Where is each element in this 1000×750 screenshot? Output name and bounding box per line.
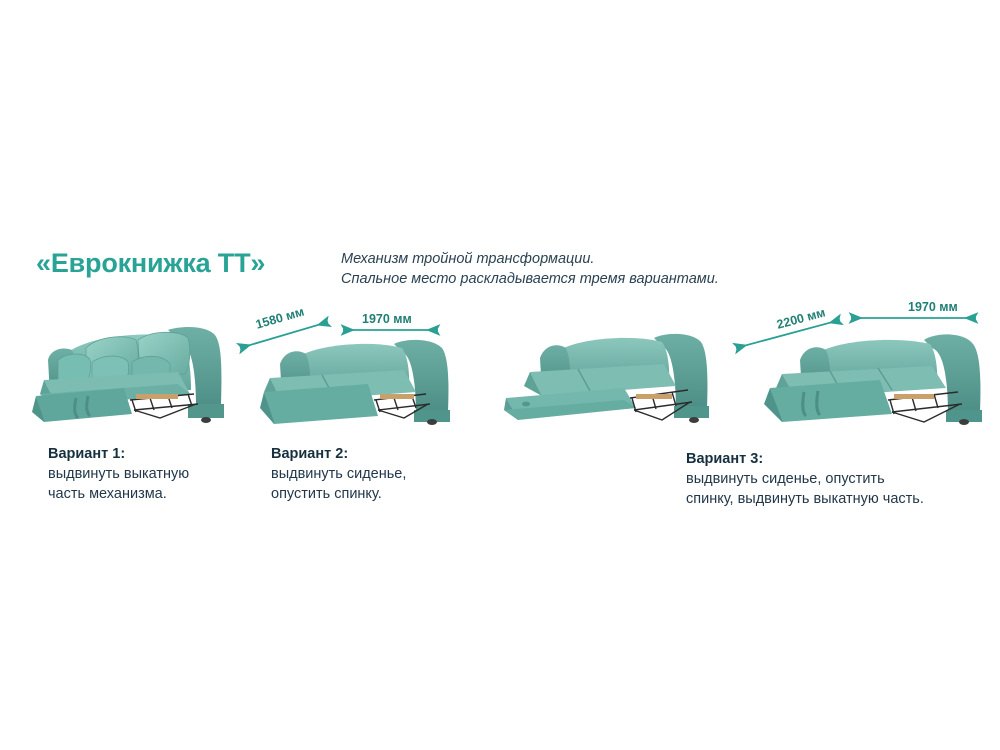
variant-3: Вариант 3: выдвинуть сиденье, опустить с… (686, 449, 924, 509)
variant-1-heading: Вариант 1: (48, 444, 189, 464)
variant-1: Вариант 1: выдвинуть выкатную часть меха… (48, 444, 189, 504)
sofa-variant-3a (504, 328, 710, 440)
subtitle-block: Механизм тройной трансформации. Спальное… (341, 249, 719, 289)
variant-2-heading: Вариант 2: (271, 444, 406, 464)
variant-3-heading: Вариант 3: (686, 449, 924, 469)
variant-3-line-1: выдвинуть сиденье, опустить (686, 469, 924, 489)
subtitle-line-1: Механизм тройной трансформации. (341, 249, 719, 269)
subtitle-line-2: Спальное место раскладывается тремя вари… (341, 269, 719, 289)
variant-2-line-2: опустить спинку. (271, 484, 406, 504)
infographic-canvas: «Еврокнижка ТТ» Механизм тройной трансфо… (0, 0, 1000, 750)
variant-3-line-2: спинку, выдвинуть выкатную часть. (686, 489, 924, 509)
dim-label-1970-right: 1970 мм (908, 300, 958, 314)
variant-2: Вариант 2: выдвинуть сиденье, опустить с… (271, 444, 406, 504)
variant-1-line-2: часть механизма. (48, 484, 189, 504)
page-title: «Еврокнижка ТТ» (36, 248, 265, 279)
variant-1-line-1: выдвинуть выкатную (48, 464, 189, 484)
variant-2-line-1: выдвинуть сиденье, (271, 464, 406, 484)
dim-label-1970-left: 1970 мм (362, 312, 412, 326)
sofa-variant-1 (28, 308, 238, 433)
